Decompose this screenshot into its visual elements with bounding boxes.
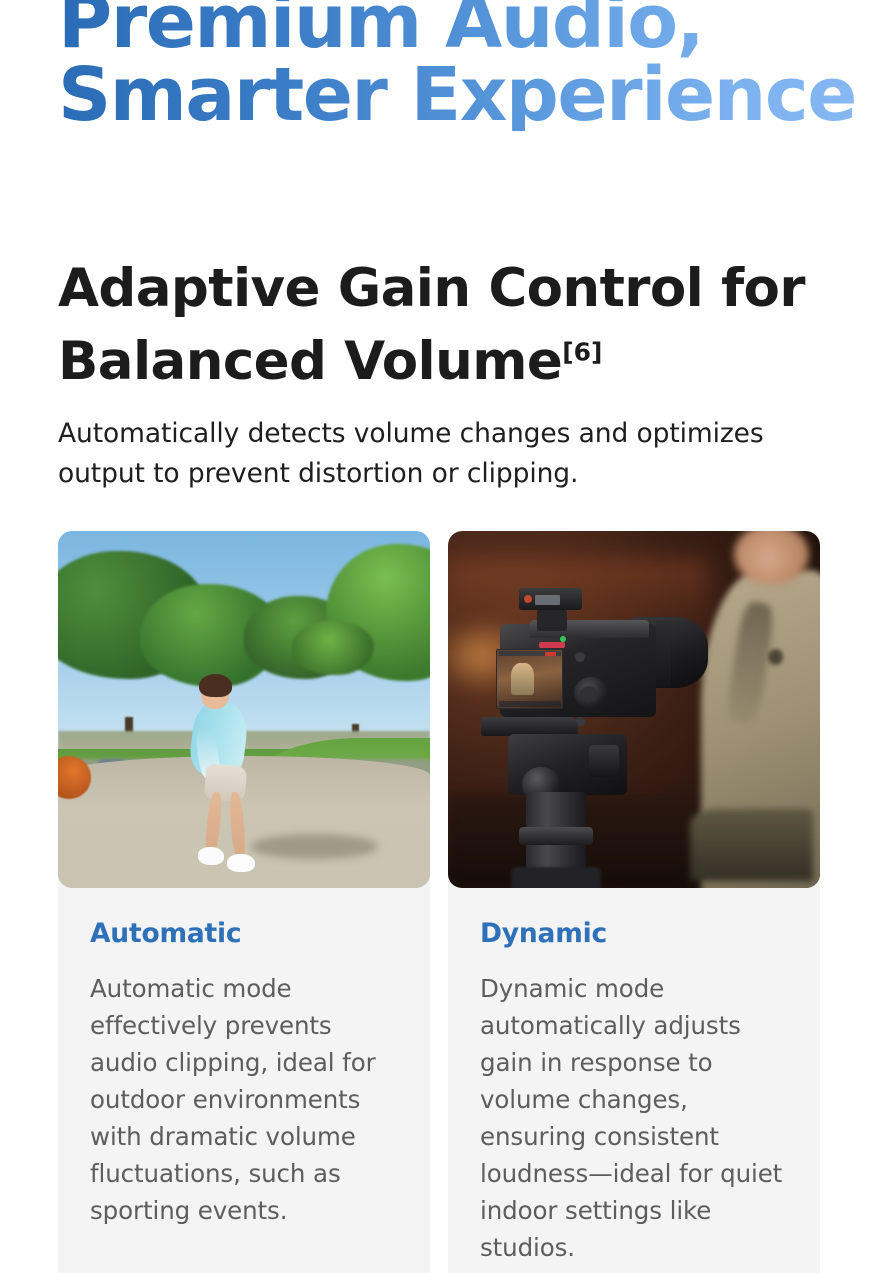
automatic-card-text: Automatic mode effectively prevents audi…	[90, 971, 398, 1230]
product-feature-page: Premium Audio, Smarter Experience Adapti…	[0, 0, 878, 1273]
camera-control-dial-center	[580, 686, 597, 702]
lcd-rec-indicator	[545, 652, 556, 656]
lcd-subject-preview	[511, 663, 533, 695]
microphone-display	[535, 595, 559, 604]
footnote-marker: [6]	[562, 337, 602, 366]
record-button-icon	[539, 642, 565, 648]
tripod-collar	[519, 827, 593, 845]
feature-card-list: Automatic Automatic mode effectively pre…	[58, 531, 820, 1273]
automatic-card-body: Automatic Automatic mode effectively pre…	[58, 888, 430, 1270]
dynamic-card-title: Dynamic	[480, 918, 788, 949]
tripod-tilt-lock	[589, 745, 619, 777]
automatic-card-title: Automatic	[90, 918, 398, 949]
status-led-icon	[560, 636, 566, 642]
dynamic-card-body: Dynamic Dynamic mode automatically adjus…	[448, 888, 820, 1273]
treeline-layer	[58, 538, 430, 745]
microphone-mount	[537, 610, 567, 631]
camera-button-icon	[575, 652, 585, 661]
tripod-base	[511, 867, 600, 888]
lens-focus-ring	[656, 620, 671, 684]
section-heading: Adaptive Gain Control for Balanced Volum…	[58, 252, 848, 398]
tripod-quick-release-plate	[481, 717, 578, 737]
subject-button	[768, 649, 783, 665]
player-shoe	[198, 847, 224, 865]
subject-lap	[690, 809, 813, 880]
hero-title: Premium Audio, Smarter Experience	[58, 0, 858, 131]
feature-card-automatic[interactable]: Automatic Automatic mode effectively pre…	[58, 531, 430, 1273]
feature-card-dynamic[interactable]: Dynamic Dynamic mode automatically adjus…	[448, 531, 820, 1273]
section-description: Automatically detects volume changes and…	[58, 414, 848, 495]
automatic-mode-image	[58, 531, 430, 888]
dynamic-card-text: Dynamic mode automatically adjusts gain …	[480, 971, 788, 1267]
player-hair	[199, 674, 232, 697]
dynamic-mode-image	[448, 531, 820, 888]
outdoor-basketball-illustration	[58, 531, 430, 888]
section-heading-text: Adaptive Gain Control for Balanced Volum…	[58, 258, 805, 392]
lcd-bottom-overlay	[499, 701, 561, 707]
studio-camera-illustration	[448, 531, 820, 888]
tree-icon	[292, 621, 374, 675]
player-shorts	[204, 763, 247, 801]
player-shoe	[227, 854, 255, 872]
